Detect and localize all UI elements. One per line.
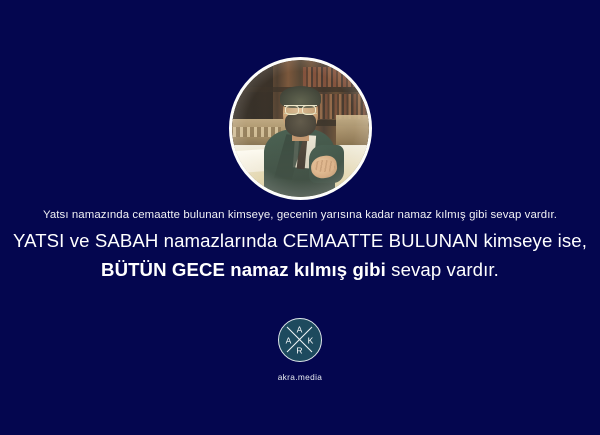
- brand-logo[interactable]: A A K R akra.media: [0, 318, 600, 382]
- svg-text:R: R: [296, 346, 302, 356]
- quote-line-1: Yatsı namazında cemaatte bulunan kimseye…: [0, 206, 600, 224]
- quote-block: Yatsı namazında cemaatte bulunan kimseye…: [0, 206, 600, 284]
- quote-line-3-emphasis: BÜTÜN GECE namaz kılmış gibi: [101, 259, 386, 280]
- svg-text:A: A: [297, 325, 303, 335]
- akra-monogram-icon[interactable]: A A K R: [278, 318, 322, 362]
- quote-line-3-tail: sevap vardır.: [386, 259, 499, 280]
- poster-canvas: Yatsı namazında cemaatte bulunan kimseye…: [0, 0, 600, 435]
- portrait-photo: [232, 60, 369, 197]
- brand-wordmark: akra.media: [0, 372, 600, 382]
- svg-text:A: A: [286, 336, 292, 346]
- quote-line-2: YATSI ve SABAH namazlarında CEMAATTE BUL…: [0, 227, 600, 255]
- photo-vignette: [232, 60, 369, 197]
- quote-line-3: BÜTÜN GECE namaz kılmış gibi sevap vardı…: [0, 256, 600, 284]
- svg-text:K: K: [308, 336, 314, 346]
- portrait-frame: [229, 57, 372, 200]
